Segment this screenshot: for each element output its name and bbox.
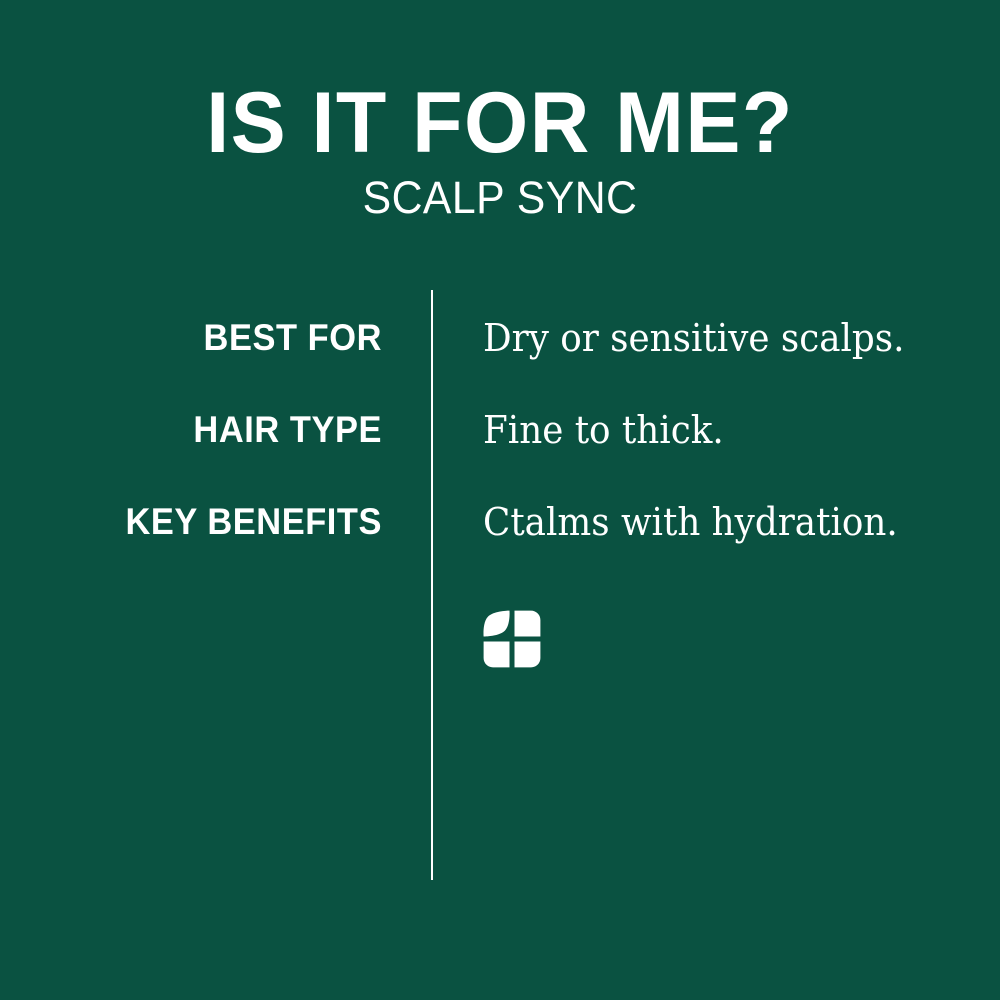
spec-value-best-for: Dry or sensitive scalps. [483,313,953,363]
spec-value-key-benefits: Ctalms with hydration. [483,497,953,547]
spec-label-best-for: BEST FOR [83,315,382,361]
column-divider [431,290,433,880]
spec-label-key-benefits: KEY BENEFITS [83,499,382,545]
spec-table: BEST FOR Dry or sensitive scalps. HAIR T… [0,290,1000,890]
page-title: IS IT FOR ME? [20,80,980,166]
spec-row: HAIR TYPE Fine to thick. [0,407,1000,453]
spec-label-hair-type: HAIR TYPE [83,407,382,453]
spec-row: KEY BENEFITS Ctalms with hydration. [0,499,1000,545]
page-subtitle: SCALP SYNC [25,175,975,220]
spec-value-hair-type: Fine to thick. [483,405,953,455]
product-spec-card: IS IT FOR ME? SCALP SYNC BEST FOR Dry or… [0,0,1000,1000]
spec-row: BEST FOR Dry or sensitive scalps. [0,315,1000,361]
leaf-quadrant-logo-icon [483,610,541,668]
